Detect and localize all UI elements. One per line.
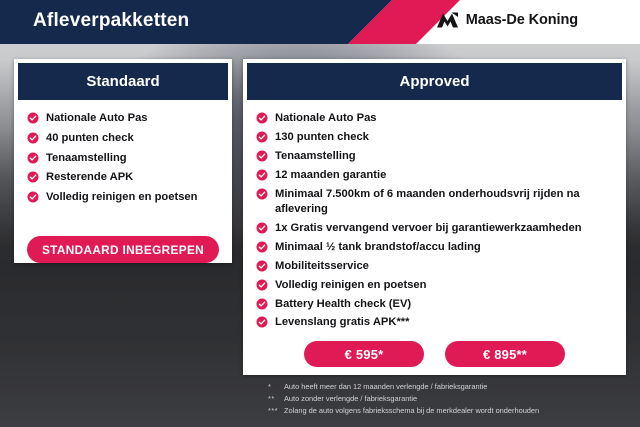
brand-name: Maas-De Koning bbox=[466, 12, 578, 28]
check-circle-icon bbox=[256, 298, 268, 310]
check-circle-icon bbox=[256, 316, 268, 328]
feature-list-standaard: Nationale Auto Pas40 punten checkTenaams… bbox=[27, 111, 219, 205]
price-button-2[interactable]: € 895** bbox=[445, 341, 565, 367]
check-circle-icon bbox=[256, 169, 268, 181]
feature-label: Minimaal ½ tank brandstof/accu lading bbox=[275, 240, 481, 255]
footnote-marker: ** bbox=[268, 393, 284, 405]
feature-item: Nationale Auto Pas bbox=[256, 111, 613, 126]
footnote-text: Zolang de auto volgens fabrieksschema bi… bbox=[284, 405, 628, 417]
feature-item: Minimaal ½ tank brandstof/accu lading bbox=[256, 240, 613, 255]
check-circle-icon bbox=[256, 222, 268, 234]
check-circle-icon bbox=[27, 132, 39, 144]
card-body-standaard: Nationale Auto Pas40 punten checkTenaams… bbox=[14, 100, 232, 228]
feature-label: 40 punten check bbox=[46, 131, 134, 146]
check-circle-icon bbox=[256, 279, 268, 291]
feature-label: Levenslang gratis APK*** bbox=[275, 315, 410, 330]
check-circle-icon bbox=[256, 131, 268, 143]
footnotes: *Auto heeft meer dan 12 maanden verlengd… bbox=[268, 381, 628, 417]
feature-label: Volledig reinigen en poetsen bbox=[275, 278, 426, 293]
feature-label: Battery Health check (EV) bbox=[275, 297, 411, 312]
package-card-standaard: Standaard Nationale Auto Pas40 punten ch… bbox=[14, 59, 232, 263]
feature-label: Volledig reinigen en poetsen bbox=[46, 190, 197, 205]
maas-de-koning-m-logo-icon bbox=[436, 11, 459, 29]
feature-item: Volledig reinigen en poetsen bbox=[256, 278, 613, 293]
feature-item: Tenaamstelling bbox=[256, 149, 613, 164]
footnote-row: *Auto heeft meer dan 12 maanden verlengd… bbox=[268, 381, 628, 393]
feature-item: Volledig reinigen en poetsen bbox=[27, 190, 219, 205]
price-button-1[interactable]: € 595* bbox=[304, 341, 424, 367]
feature-item: Battery Health check (EV) bbox=[256, 297, 613, 312]
feature-label: 130 punten check bbox=[275, 130, 369, 145]
feature-item: 40 punten check bbox=[27, 131, 219, 146]
feature-label: Mobiliteitsservice bbox=[275, 259, 369, 274]
feature-item: Mobiliteitsservice bbox=[256, 259, 613, 274]
check-circle-icon bbox=[27, 152, 39, 164]
standaard-inbegrepen-button[interactable]: STANDAARD INBEGREPEN bbox=[27, 236, 219, 263]
feature-item: Minimaal 7.500km of 6 maanden onderhouds… bbox=[256, 187, 613, 217]
feature-item: 12 maanden garantie bbox=[256, 168, 613, 183]
card-title-approved: Approved bbox=[247, 63, 622, 100]
feature-label: Minimaal 7.500km of 6 maanden onderhouds… bbox=[275, 187, 613, 217]
feature-item: 130 punten check bbox=[256, 130, 613, 145]
package-card-approved: Approved Nationale Auto Pas130 punten ch… bbox=[243, 59, 626, 375]
feature-label: Tenaamstelling bbox=[275, 149, 356, 164]
check-circle-icon bbox=[27, 171, 39, 183]
brand-logo: Maas-De Koning bbox=[436, 11, 578, 29]
check-circle-icon bbox=[27, 191, 39, 203]
check-circle-icon bbox=[256, 260, 268, 272]
feature-list-approved: Nationale Auto Pas130 punten checkTenaam… bbox=[256, 111, 613, 330]
feature-item: 1x Gratis vervangend vervoer bij garanti… bbox=[256, 221, 613, 236]
check-circle-icon bbox=[256, 112, 268, 124]
feature-item: Resterende APK bbox=[27, 170, 219, 185]
price-button-row: € 595*€ 895** bbox=[243, 341, 626, 379]
feature-label: 1x Gratis vervangend vervoer bij garanti… bbox=[275, 221, 582, 236]
footnote-text: Auto zonder verlengde / fabrieksgarantie bbox=[284, 393, 628, 405]
feature-item: Levenslang gratis APK*** bbox=[256, 315, 613, 330]
feature-label: Nationale Auto Pas bbox=[275, 111, 377, 126]
check-circle-icon bbox=[27, 112, 39, 124]
page-header: Afleverpakketten Maas-De Koning bbox=[0, 0, 640, 44]
check-circle-icon bbox=[256, 188, 268, 200]
feature-label: Nationale Auto Pas bbox=[46, 111, 148, 126]
footnote-text: Auto heeft meer dan 12 maanden verlengde… bbox=[284, 381, 628, 393]
footnote-row: ***Zolang de auto volgens fabrieksschema… bbox=[268, 405, 628, 417]
footnote-marker: * bbox=[268, 381, 284, 393]
check-circle-icon bbox=[256, 150, 268, 162]
card-title-standaard: Standaard bbox=[18, 63, 228, 100]
card-body-approved: Nationale Auto Pas130 punten checkTenaam… bbox=[243, 100, 626, 334]
footnote-row: **Auto zonder verlengde / fabrieksgarant… bbox=[268, 393, 628, 405]
feature-label: Tenaamstelling bbox=[46, 151, 127, 166]
feature-item: Nationale Auto Pas bbox=[27, 111, 219, 126]
feature-label: Resterende APK bbox=[46, 170, 133, 185]
page-title: Afleverpakketten bbox=[33, 10, 189, 32]
footnote-marker: *** bbox=[268, 405, 284, 417]
check-circle-icon bbox=[256, 241, 268, 253]
feature-label: 12 maanden garantie bbox=[275, 168, 386, 183]
feature-item: Tenaamstelling bbox=[27, 151, 219, 166]
